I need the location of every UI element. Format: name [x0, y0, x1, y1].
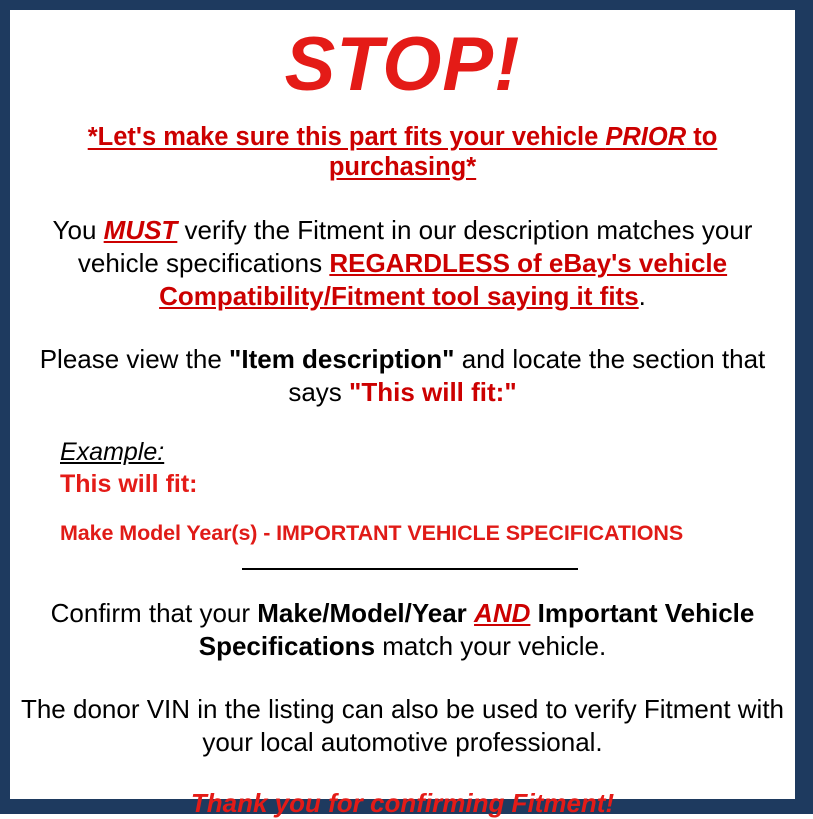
- divider: [18, 546, 787, 570]
- subtitle-emphasis-prior: PRIOR: [605, 123, 686, 151]
- must-verify-paragraph: You MUST verify the Fitment in our descr…: [18, 182, 787, 313]
- donor-vin-paragraph: The donor VIN in the listing can also be…: [18, 663, 787, 759]
- must-seg1: You: [53, 215, 104, 245]
- example-label: Example:: [60, 437, 164, 467]
- and-emphasis: AND: [474, 598, 530, 628]
- make-model-year-emphasis: Make/Model/Year: [257, 598, 467, 628]
- page-title: STOP!: [18, 10, 787, 106]
- confirm-seg1: Confirm that your: [51, 598, 258, 628]
- subtitle-banner: *Let's make sure this part fits your veh…: [18, 106, 787, 182]
- example-block: Example: This will fit: Make Model Year(…: [18, 409, 787, 546]
- thank-you-line: Thank you for confirming Fitment!: [18, 759, 787, 819]
- item-description-paragraph: Please view the "Item description" and l…: [18, 313, 787, 409]
- confirm-paragraph: Confirm that your Make/Model/Year AND Im…: [18, 570, 787, 663]
- example-fit-header: This will fit:: [60, 467, 787, 499]
- example-label-row: Example:: [60, 437, 787, 467]
- must-seg3: .: [639, 281, 646, 311]
- example-spec-line: Make Model Year(s) - IMPORTANT VEHICLE S…: [60, 499, 787, 546]
- subtitle-text-before: *Let's make sure this part fits your veh…: [88, 123, 606, 151]
- this-will-fit-quote: "This will fit:": [349, 377, 517, 407]
- item-description-emphasis: "Item description": [229, 344, 454, 374]
- divider-rule: [242, 568, 578, 570]
- fitment-notice-body: STOP! *Let's make sure this part fits yo…: [10, 10, 795, 799]
- view-seg1: Please view the: [40, 344, 229, 374]
- must-emphasis: MUST: [104, 215, 178, 245]
- fitment-notice-frame: STOP! *Let's make sure this part fits yo…: [0, 0, 813, 814]
- confirm-seg2: match your vehicle.: [375, 631, 606, 661]
